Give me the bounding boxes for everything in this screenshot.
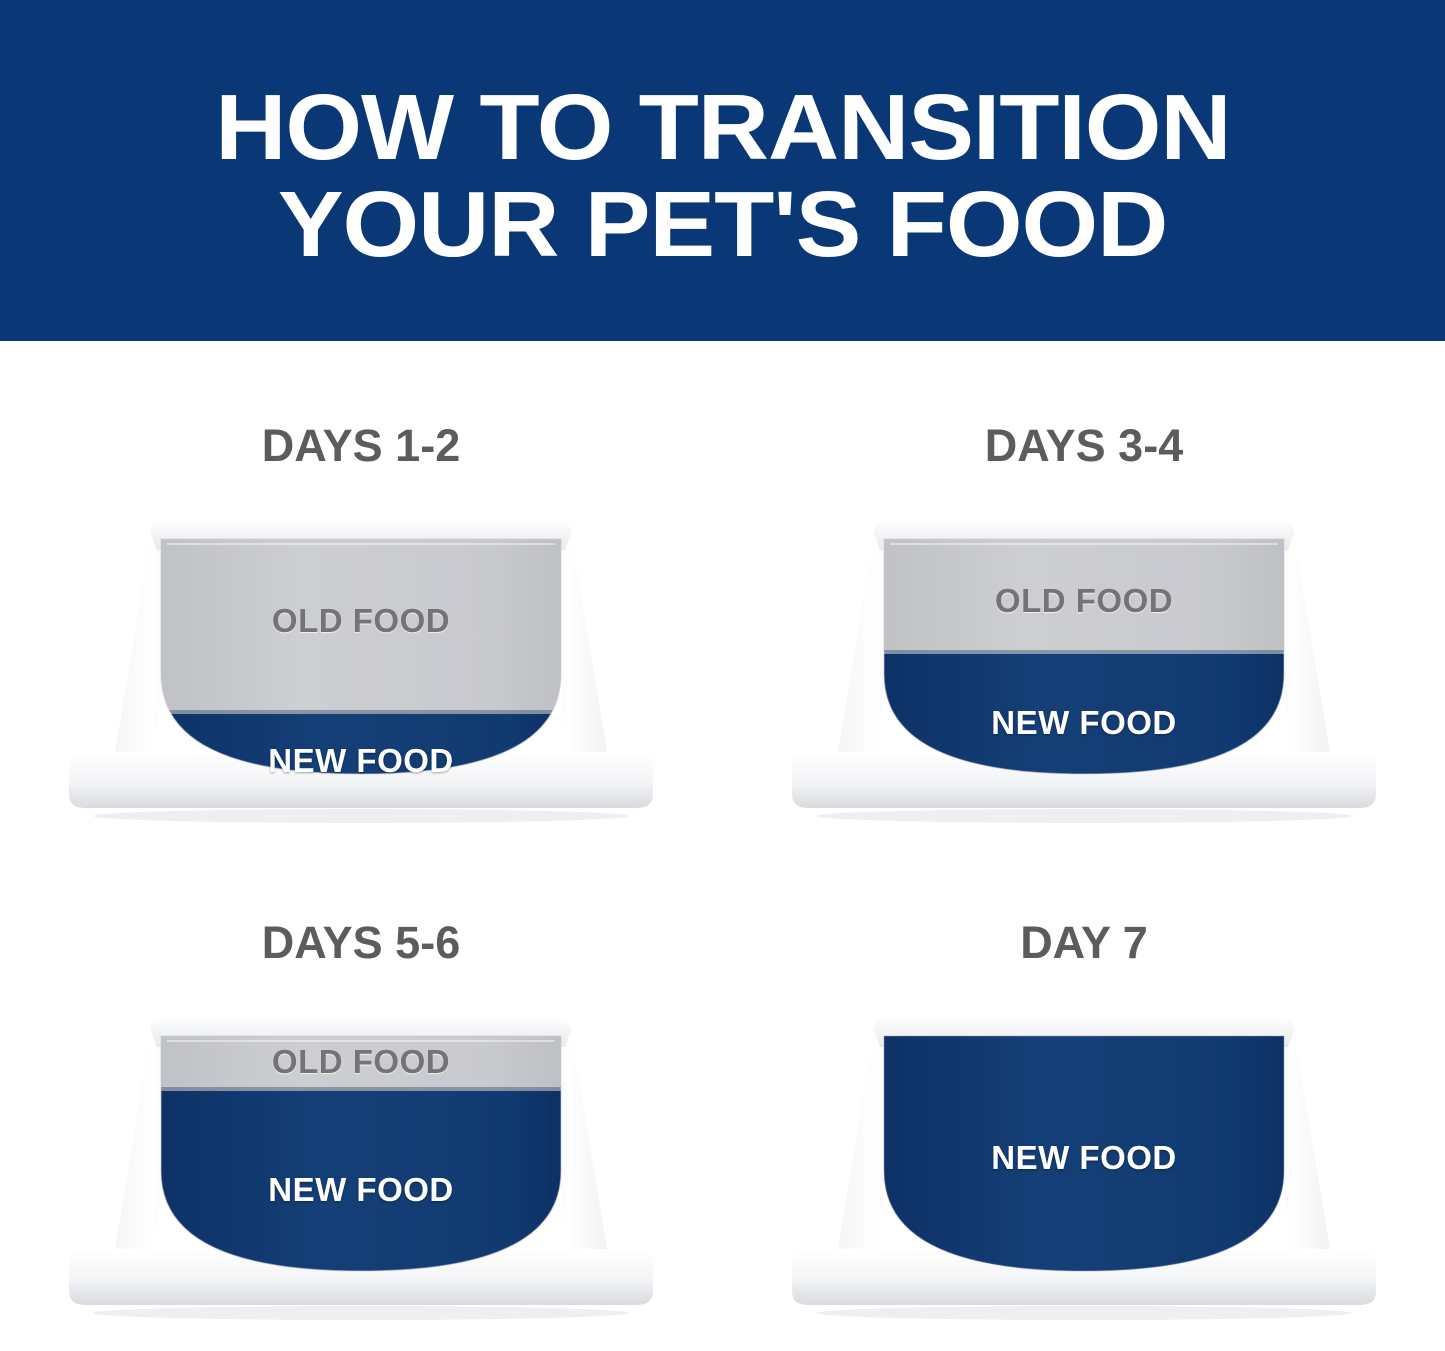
step-title: DAYS 5-6 [262,920,460,965]
title-banner: HOW TO TRANSITION YOUR PET'S FOOD [0,0,1445,341]
bowl-svg [774,991,1394,1321]
step-card-days-3-4: DAYS 3-4 [723,341,1445,846]
step-card-days-5-6: DAYS 5-6 [0,846,722,1351]
step-title: DAY 7 [1020,920,1148,965]
step-title: DAYS 1-2 [262,423,460,468]
bowl-illustration: OLD FOOD NEW FOOD [774,494,1394,824]
transition-steps-grid: DAYS 1-2 [0,341,1445,1350]
banner-title-line-1: HOW TO TRANSITION [215,81,1230,173]
step-card-day-7: DAY 7 [723,846,1445,1351]
step-title: DAYS 3-4 [985,423,1183,468]
bowl-svg [774,494,1394,824]
bowl-illustration: OLD FOOD NEW FOOD [51,991,671,1321]
bowl-svg [51,991,671,1321]
bowl-illustration: OLD FOOD NEW FOOD [51,494,671,824]
step-card-days-1-2: DAYS 1-2 [0,341,722,846]
bowl-illustration: NEW FOOD [774,991,1394,1321]
banner-title-line-2: YOUR PET'S FOOD [278,178,1167,270]
bowl-svg [51,494,671,824]
